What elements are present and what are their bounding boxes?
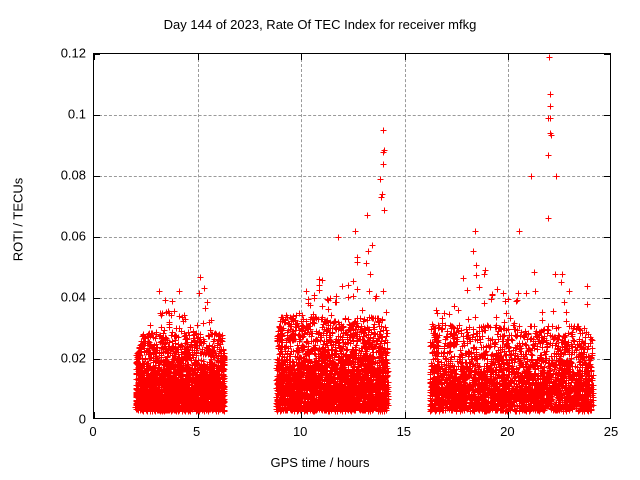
- y-tick-label: 0.02: [6, 351, 86, 366]
- plot-area: [93, 53, 611, 419]
- y-tick-label: 0.06: [6, 229, 86, 244]
- x-tick-label: 10: [275, 424, 325, 439]
- scatter-points: [94, 54, 611, 419]
- x-axis-label: GPS time / hours: [0, 455, 640, 470]
- chart-figure: Day 144 of 2023, Rate Of TEC Index for r…: [0, 0, 640, 480]
- x-tick-label: 15: [379, 424, 429, 439]
- chart-title: Day 144 of 2023, Rate Of TEC Index for r…: [0, 17, 640, 32]
- scatter-marker-group: [133, 55, 597, 415]
- x-tick-label: 20: [482, 424, 532, 439]
- x-tick-label: 25: [586, 424, 636, 439]
- x-tick-label: 0: [68, 424, 118, 439]
- x-tick-label: 5: [172, 424, 222, 439]
- y-tick-label: 0.08: [6, 168, 86, 183]
- y-tick-label: 0.1: [6, 107, 86, 122]
- y-tick-label: 0.04: [6, 290, 86, 305]
- y-tick-label: 0.12: [6, 46, 86, 61]
